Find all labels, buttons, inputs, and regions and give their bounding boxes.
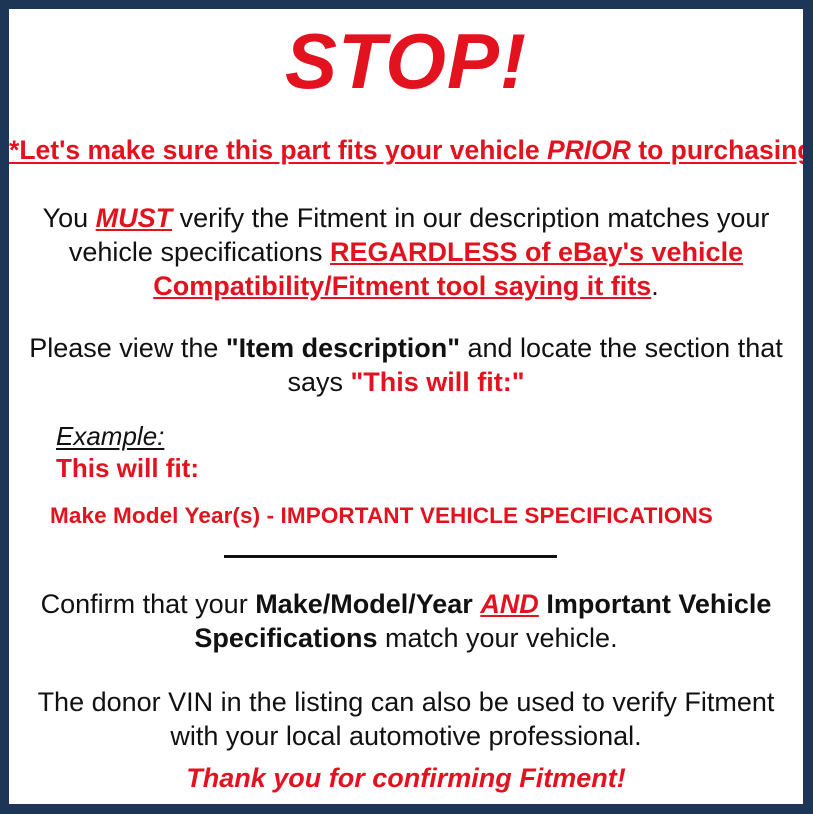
example-spec-line: Make Model Year(s) - IMPORTANT VEHICLE S… (50, 502, 713, 530)
subtitle-text-before: *Let's make sure this part fits your veh… (9, 135, 547, 165)
paragraph-confirm: Confirm that your Make/Model/Year AND Im… (27, 587, 785, 655)
must-text-part1: You (43, 203, 96, 233)
page-title: STOP! (9, 15, 803, 107)
subtitle-line: *Let's make sure this part fits your veh… (9, 134, 803, 166)
fitment-warning-banner: STOP! *Let's make sure this part fits yo… (0, 0, 813, 814)
and-emphasis: AND (480, 589, 539, 619)
paragraph-donor-vin: The donor VIN in the listing can also be… (27, 685, 785, 753)
item-description-emphasis: "Item description" (226, 333, 460, 363)
confirm-text-part2: match your vehicle. (377, 623, 617, 653)
example-this-will-fit: This will fit: (56, 453, 199, 483)
confirm-text-part1: Confirm that your (41, 589, 256, 619)
view-text-part1: Please view the (29, 333, 226, 363)
thank-you-message: Thank you for confirming Fitment! (9, 761, 803, 795)
paragraph-must-verify: You MUST verify the Fitment in our descr… (27, 201, 785, 303)
section-divider (224, 555, 557, 558)
make-model-year-emphasis: Make/Model/Year (255, 589, 473, 619)
paragraph-item-description: Please view the "Item description" and l… (27, 331, 785, 399)
subtitle-emphasis-prior: PRIOR (547, 135, 631, 165)
must-text-part3: . (651, 271, 659, 301)
must-emphasis: MUST (96, 203, 173, 233)
this-will-fit-emphasis: "This will fit:" (350, 367, 524, 397)
example-label: Example: (56, 421, 164, 451)
banner-content-area: STOP! *Let's make sure this part fits yo… (9, 9, 803, 804)
subtitle-text-after: to purchasing* (631, 135, 803, 165)
